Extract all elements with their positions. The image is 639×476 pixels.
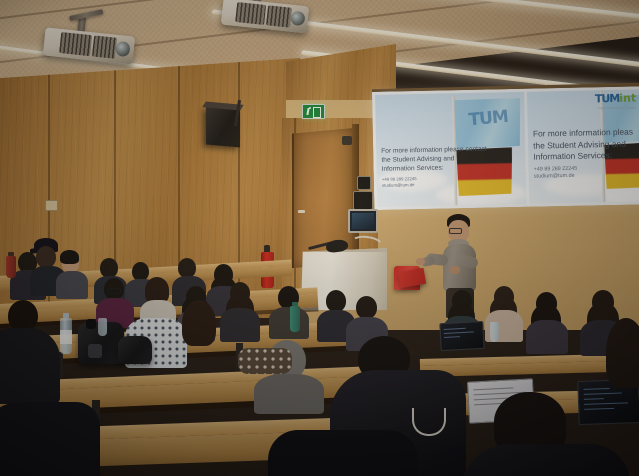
audience-patterned-scarf — [238, 348, 292, 374]
control-monitor[interactable] — [348, 209, 378, 233]
slide-right-line3: Information Services: — [533, 150, 633, 164]
audience-glasses-1 — [108, 288, 121, 294]
water-bottle-2 — [6, 256, 16, 278]
equipment-box-upper — [357, 176, 371, 190]
light-switch[interactable] — [45, 200, 58, 211]
water-bottle-5 — [490, 322, 499, 342]
slide-content: TUM TUMint TUM International Center For … — [372, 86, 639, 210]
tum-logo-mark: TUM — [595, 92, 620, 106]
projection-screen: TUM TUMint TUM International Center For … — [372, 86, 639, 210]
tum-int-logo: TUMint TUM International Center — [595, 91, 637, 110]
presenter-hand-left — [416, 258, 425, 265]
tum-logo-subtitle: TUM International Center — [595, 105, 636, 110]
backpack-2 — [118, 336, 152, 364]
slide-text-left: For more information please contact the … — [381, 145, 487, 189]
door-handle[interactable] — [298, 210, 305, 213]
presenter-hand-right — [450, 266, 460, 274]
water-bottle-4 — [290, 306, 300, 332]
wall-sensor — [342, 136, 352, 145]
tum-logo-int: int — [619, 91, 636, 104]
equipment-box-lower — [353, 191, 373, 210]
slide-text-right: For more information pleas the Student A… — [533, 127, 634, 182]
slide-left-line3: Information Services: — [382, 163, 488, 174]
tum-flag-mark-left: TUM — [468, 107, 509, 130]
water-bottle-3 — [98, 318, 107, 336]
laptop-1[interactable] — [439, 321, 484, 351]
lecture-hall-screenshot: TUM TUMint TUM International Center For … — [0, 0, 639, 476]
water-bottle-1 — [60, 318, 72, 354]
emergency-exit-sign — [302, 104, 325, 119]
presenter-glasses — [449, 228, 462, 234]
